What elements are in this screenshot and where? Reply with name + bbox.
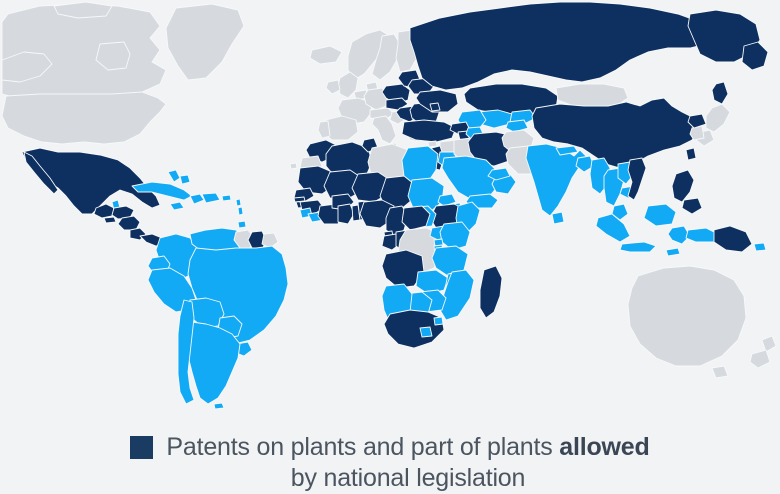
region-lesotho xyxy=(420,327,432,337)
legend-label-plain: Patents on plants and part of plants xyxy=(166,433,559,461)
map-legend: Patents on plants and part of plants all… xyxy=(0,410,780,470)
region-eswatini xyxy=(434,317,443,325)
region-el-salvador xyxy=(104,217,116,223)
region-bahamas-2 xyxy=(180,175,190,184)
region-solomon-islands xyxy=(754,243,766,251)
region-sri-lanka xyxy=(552,212,564,224)
region-canary-islands xyxy=(290,163,297,169)
region-cyprus xyxy=(428,141,437,147)
legend-swatch-allowed xyxy=(130,436,153,459)
legend-item-allowed: Patents on plants and part of plants all… xyxy=(130,432,649,494)
world-map-container xyxy=(0,0,780,410)
world-map-svg xyxy=(0,0,780,410)
region-trinidad xyxy=(238,221,246,228)
region-lesser-antilles-2 xyxy=(238,207,243,215)
region-taiwan xyxy=(686,148,696,160)
infographic-root: Patents on plants and part of plants all… xyxy=(0,0,780,470)
region-moldova xyxy=(430,103,440,111)
legend-label-allowed: Patents on plants and part of plants all… xyxy=(166,432,649,494)
legend-label-bold: allowed xyxy=(559,433,649,461)
legend-label-line2: by national legislation xyxy=(166,463,649,494)
region-korea-south xyxy=(690,126,704,140)
region-timor xyxy=(666,248,680,256)
region-puerto-rico xyxy=(222,195,231,201)
region-lesser-antilles-1 xyxy=(236,199,241,206)
region-central-african-republic xyxy=(402,206,430,230)
region-falklands xyxy=(214,403,224,409)
